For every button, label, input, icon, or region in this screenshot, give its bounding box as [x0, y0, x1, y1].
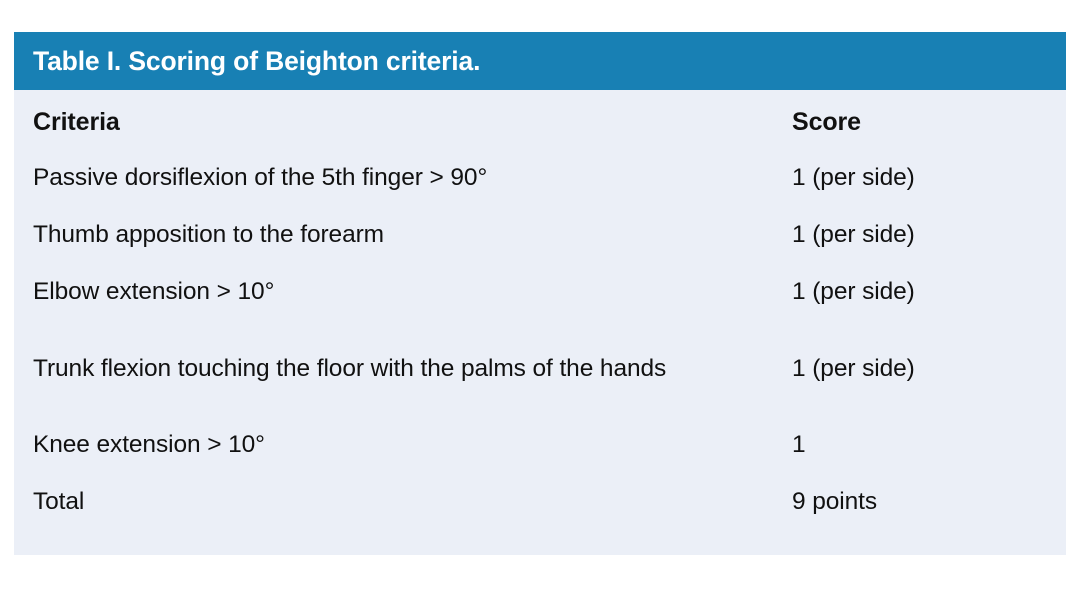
cell-score: 9 points — [790, 474, 1066, 531]
cell-score: 1 — [790, 417, 1066, 474]
table-row: Elbow extension > 10°1 (per side) — [14, 264, 1066, 321]
table-bottom-spacer — [14, 531, 1066, 555]
table-row: Trunk flexion touching the floor with th… — [14, 321, 1066, 417]
table-body: Passive dorsiflexion of the 5th finger >… — [14, 150, 1066, 531]
cell-criteria: Thumb apposition to the forearm — [14, 207, 790, 264]
table-header-row: Criteria Score — [14, 90, 1066, 150]
cell-criteria: Passive dorsiflexion of the 5th finger >… — [14, 150, 790, 207]
cell-score: 1 (per side) — [790, 150, 1066, 207]
cell-criteria: Total — [14, 474, 790, 531]
table-row: Knee extension > 10°1 — [14, 417, 1066, 474]
table-row: Passive dorsiflexion of the 5th finger >… — [14, 150, 1066, 207]
cell-score: 1 (per side) — [790, 321, 1066, 417]
table-caption: Table I. Scoring of Beighton criteria. — [33, 48, 480, 75]
beighton-scoring-table: Criteria Score Passive dorsiflexion of t… — [14, 90, 1066, 531]
table-row: Total9 points — [14, 474, 1066, 531]
cell-score: 1 (per side) — [790, 264, 1066, 321]
table-row: Thumb apposition to the forearm1 (per si… — [14, 207, 1066, 264]
cell-criteria: Elbow extension > 10° — [14, 264, 790, 321]
column-header-score: Score — [790, 90, 1066, 150]
table-caption-bar: Table I. Scoring of Beighton criteria. — [14, 32, 1066, 90]
table-header-row-group: Criteria Score — [14, 90, 1066, 150]
cell-criteria: Trunk flexion touching the floor with th… — [14, 321, 790, 417]
cell-score: 1 (per side) — [790, 207, 1066, 264]
column-header-criteria: Criteria — [14, 90, 790, 150]
cell-criteria: Knee extension > 10° — [14, 417, 790, 474]
beighton-criteria-table-figure: Table I. Scoring of Beighton criteria. C… — [14, 32, 1066, 555]
